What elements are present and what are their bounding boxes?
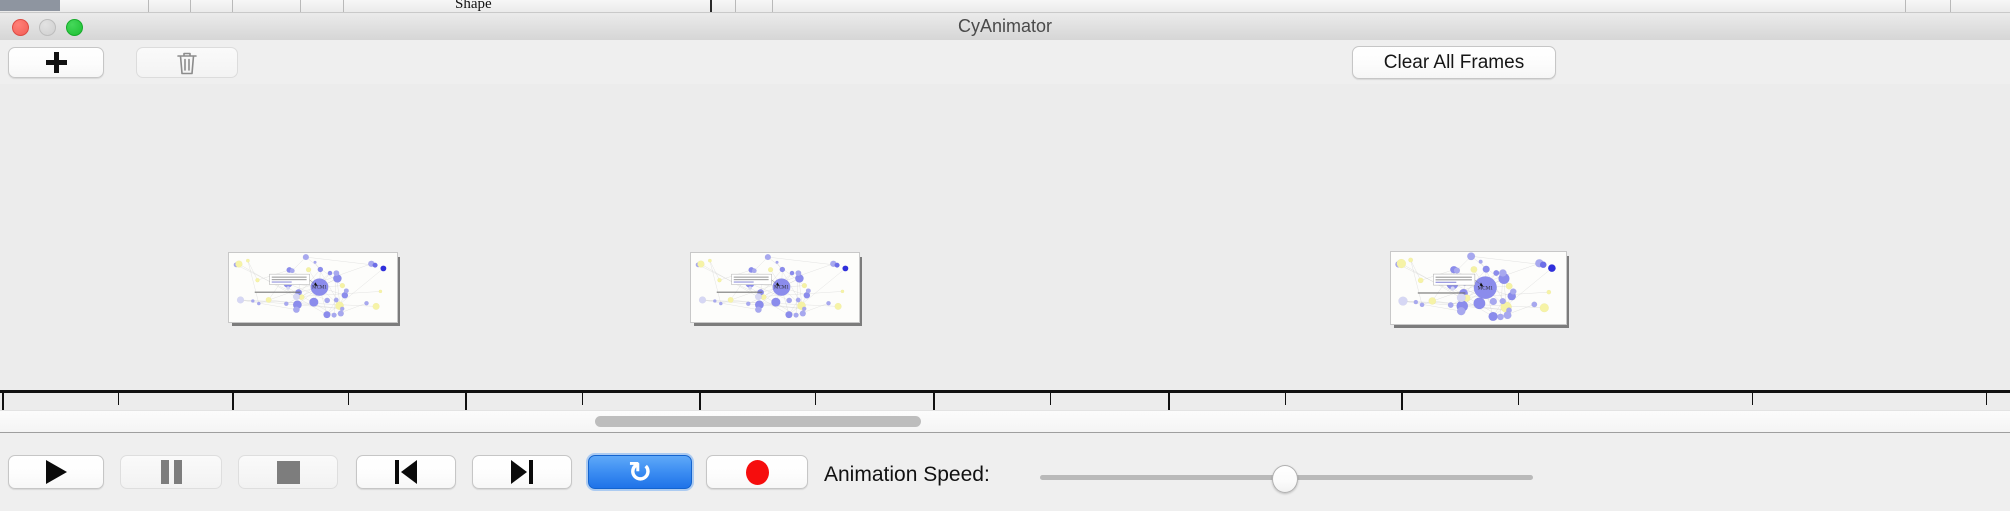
toolbar: Clear All Frames	[0, 40, 2010, 85]
loop-icon: ↻	[628, 458, 652, 487]
stop-icon	[277, 461, 300, 484]
stop-button[interactable]	[238, 455, 338, 489]
axis-tick	[118, 393, 119, 405]
timeline-frame-thumbnail[interactable]: MCM1	[690, 252, 858, 321]
window-title: CyAnimator	[0, 13, 2010, 40]
axis-tick	[1752, 393, 1753, 405]
timeline-frame-thumbnail[interactable]: MCM1	[1390, 251, 1565, 323]
network-thumbnail-graphic: MCM1	[229, 253, 395, 320]
axis-tick	[582, 393, 583, 405]
timeline-panel[interactable]: MCM1MCM1MCM1 2131415161718 Seconds	[0, 84, 2010, 390]
timeline-frame-thumbnail[interactable]: MCM1	[228, 252, 396, 321]
title-bar: CyAnimator	[0, 13, 2010, 41]
scrollbar-thumb[interactable]	[595, 416, 921, 427]
svg-text:MCM1: MCM1	[312, 286, 327, 291]
skip-to-end-button[interactable]	[472, 455, 572, 489]
network-thumbnail-graphic: MCM1	[691, 253, 857, 320]
network-thumbnail-graphic: MCM1	[1391, 252, 1564, 322]
axis-tick	[1285, 393, 1286, 405]
clear-all-frames-button[interactable]: Clear All Frames	[1352, 46, 1556, 79]
axis-tick	[1986, 393, 1987, 405]
skip-to-end-icon	[511, 460, 533, 484]
loop-button[interactable]: ↻	[588, 455, 692, 489]
transport-bar: ↻ Animation Speed:	[0, 432, 2010, 511]
pause-button[interactable]	[120, 455, 222, 489]
record-button[interactable]	[706, 455, 808, 489]
svg-text:MCM1: MCM1	[1478, 285, 1494, 291]
timeline-axis	[0, 390, 2010, 393]
timeline-scrollbar[interactable]	[0, 410, 2010, 434]
animation-speed-slider-thumb[interactable]	[1272, 465, 1298, 493]
skip-to-start-button[interactable]	[356, 455, 456, 489]
play-button[interactable]	[8, 455, 104, 489]
add-frame-button[interactable]	[8, 47, 104, 78]
play-icon	[46, 460, 67, 484]
delete-frame-button[interactable]	[136, 47, 238, 78]
background-window-sliver: Shape	[0, 0, 2010, 13]
svg-text:MCM1: MCM1	[774, 286, 789, 291]
thumbnail-image: MCM1	[690, 252, 860, 323]
animation-speed-label: Animation Speed:	[824, 463, 990, 487]
axis-tick	[348, 393, 349, 405]
axis-tick	[1050, 393, 1051, 405]
axis-tick	[815, 393, 816, 405]
axis-tick	[1518, 393, 1519, 405]
pause-icon	[161, 460, 182, 484]
trash-icon	[175, 50, 199, 76]
skip-to-start-icon	[395, 460, 417, 484]
plus-icon	[46, 52, 67, 73]
record-icon	[746, 460, 769, 485]
thumbnail-image: MCM1	[1390, 251, 1567, 325]
thumbnail-image: MCM1	[228, 252, 398, 323]
cyanimator-window: Shape CyAnimator Clear All Frames MCM1MC…	[0, 0, 2010, 510]
